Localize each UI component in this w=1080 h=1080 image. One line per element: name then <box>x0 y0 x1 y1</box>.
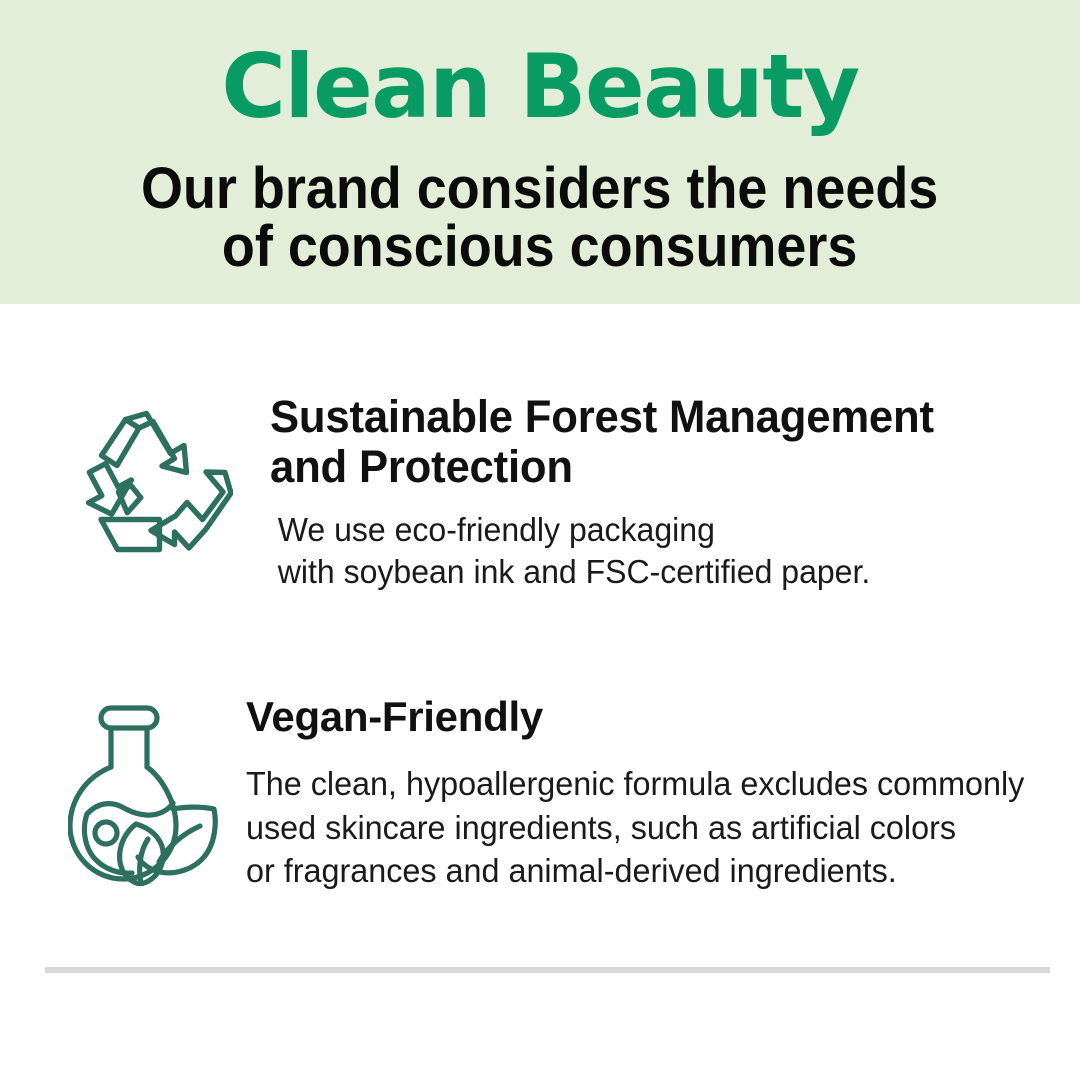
header-banner: Clean Beauty Our brand considers the nee… <box>0 0 1080 304</box>
feature-icon-wrapper <box>58 694 230 886</box>
feature-icon-wrapper <box>58 392 248 558</box>
subtitle-line-2: of conscious consumers <box>141 218 938 276</box>
feature-heading: Sustainable Forest Management and Protec… <box>270 392 1056 493</box>
recycle-icon <box>73 406 233 558</box>
feature-body: We use eco-friendly packaging with soybe… <box>270 493 1056 593</box>
page-title: Clean Beauty <box>221 42 858 132</box>
feature-text-wrapper: Sustainable Forest Management and Protec… <box>248 392 1080 593</box>
vegan-flask-leaf-icon <box>68 702 220 886</box>
feature-text-wrapper: Vegan-Friendly The clean, hypoallergenic… <box>230 694 1080 892</box>
feature-heading: Vegan-Friendly <box>246 694 1080 740</box>
subtitle-line-1: Our brand considers the needs <box>141 160 938 218</box>
feature-item-vegan-friendly: Vegan-Friendly The clean, hypoallergenic… <box>0 593 1080 892</box>
feature-item-sustainable-forest: Sustainable Forest Management and Protec… <box>0 304 1080 593</box>
feature-list: Sustainable Forest Management and Protec… <box>0 304 1080 892</box>
page-subtitle: Our brand considers the needs of conscio… <box>141 160 938 276</box>
section-divider <box>45 967 1050 973</box>
feature-body: The clean, hypoallergenic formula exclud… <box>246 740 1063 892</box>
